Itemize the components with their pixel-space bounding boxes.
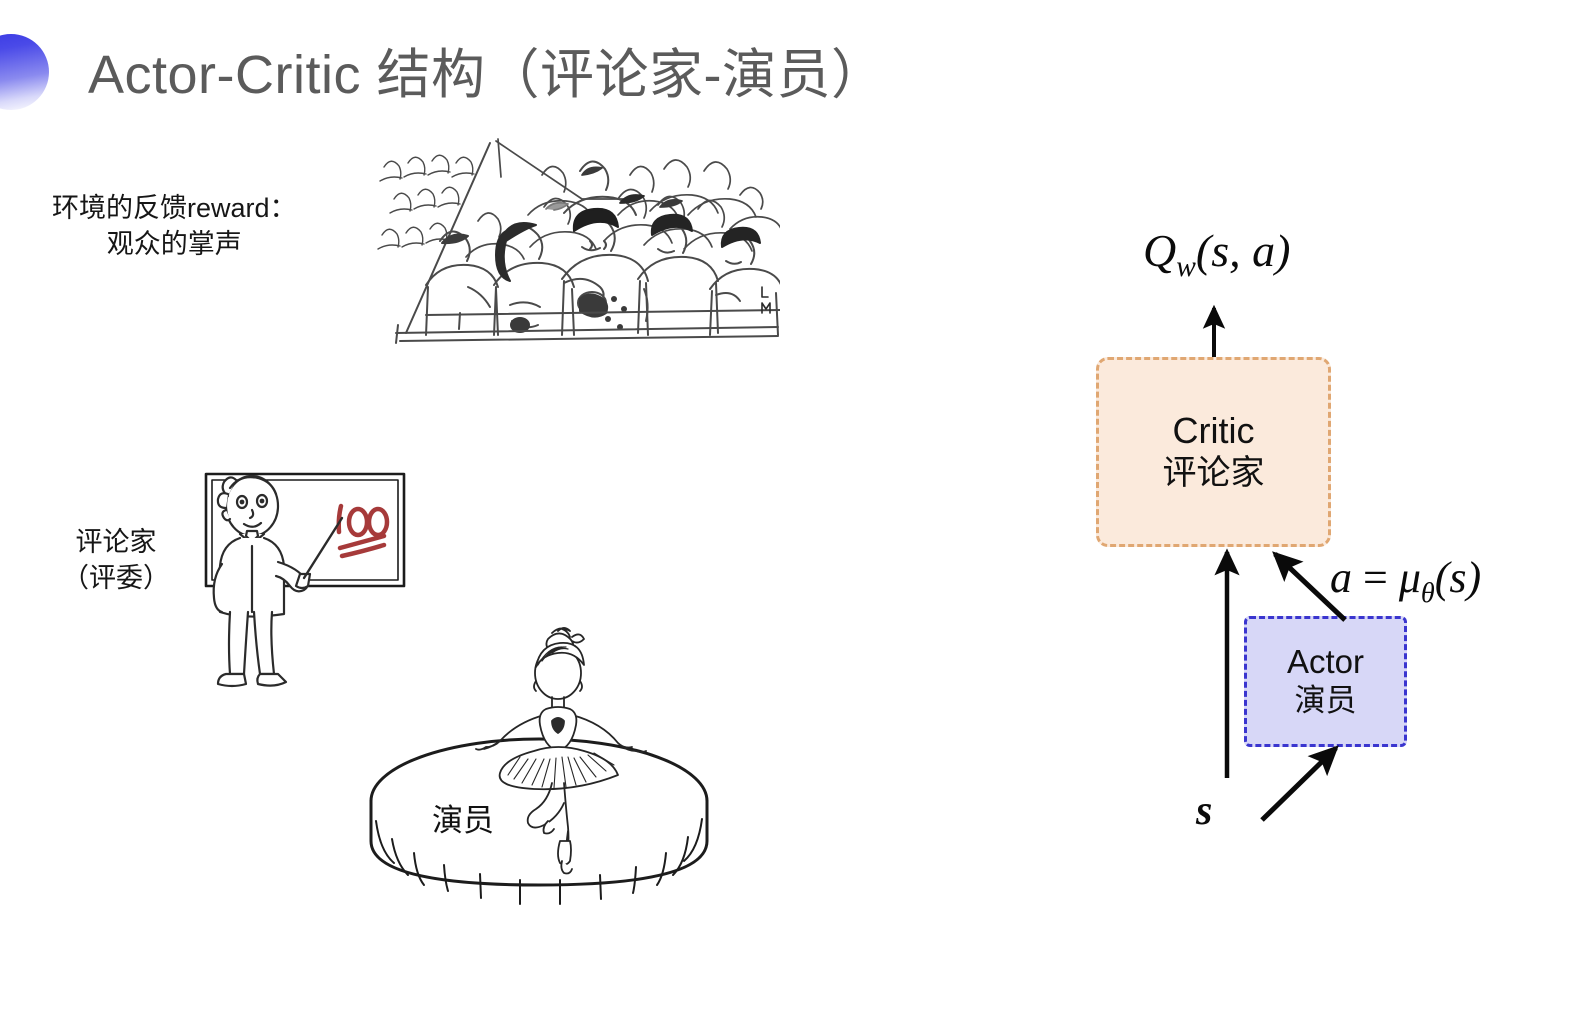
- q-args: (s, a): [1196, 225, 1291, 276]
- critic-node[interactable]: Critic 评论家: [1096, 357, 1331, 547]
- policy-args: (s): [1435, 553, 1481, 602]
- policy-equals: =: [1363, 553, 1388, 602]
- q-subscript: w: [1176, 251, 1196, 283]
- q-base: Q: [1143, 225, 1176, 276]
- policy-label: a = μθ(s): [1330, 552, 1481, 610]
- critic-caption-line2: （评委）: [62, 560, 170, 596]
- critic-node-label-zh: 评论家: [1163, 453, 1265, 494]
- page-title: Actor-Critic 结构（评论家-演员）: [88, 48, 885, 102]
- reward-caption-line2: 观众的掌声: [52, 226, 297, 262]
- arrow-state-to-actor: [1262, 748, 1336, 820]
- half-circle-gradient-icon: [0, 34, 49, 110]
- state-label: s: [1196, 787, 1212, 835]
- actor-node-label-en: Actor: [1287, 643, 1364, 682]
- critic-node-label-en: Critic: [1173, 410, 1255, 452]
- policy-subscript: θ: [1421, 578, 1435, 609]
- stage-label: 演员: [432, 795, 494, 840]
- audience-sketch-icon: [368, 137, 780, 355]
- stage-ballerina-sketch-icon: [362, 625, 722, 915]
- actor-node[interactable]: Actor 演员: [1244, 616, 1407, 747]
- policy-fn: μ: [1399, 553, 1421, 602]
- q-function-label: Qw(s, a): [1143, 224, 1290, 284]
- reward-caption-line1: 环境的反馈reward：: [52, 190, 297, 226]
- reward-caption: 环境的反馈reward： 观众的掌声: [52, 190, 297, 263]
- critic-caption-line1: 评论家: [62, 524, 170, 560]
- critic-caption: 评论家 （评委）: [62, 524, 170, 597]
- policy-lhs: a: [1330, 553, 1352, 602]
- actor-node-label-zh: 演员: [1295, 682, 1357, 719]
